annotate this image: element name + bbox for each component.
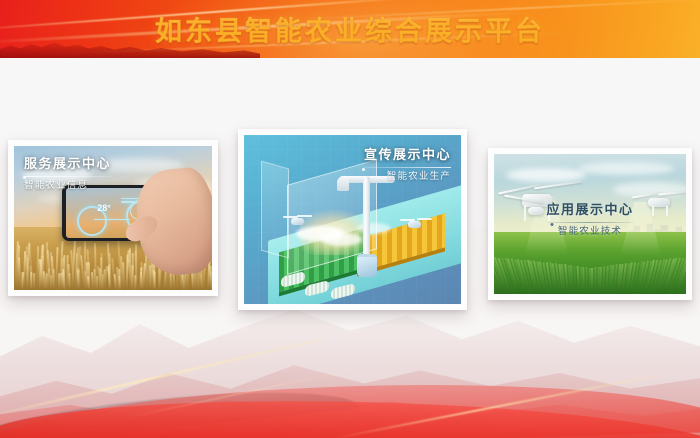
- card-image-promotion: 宣传展示中心 智能农业生产: [244, 135, 461, 304]
- hud-bar: [121, 201, 135, 203]
- card-title: 服务展示中心: [24, 156, 111, 172]
- drone-rotor: [417, 218, 432, 220]
- card-subtitle: 智能农业信息: [24, 180, 111, 192]
- drone-body: [408, 221, 421, 228]
- card-image-application: 应用展示中心 智能农业技术: [494, 154, 686, 294]
- cloud: [357, 223, 391, 234]
- wheat-stalk: [78, 269, 81, 290]
- wheat-stalk: [33, 273, 35, 290]
- wave-grey: [0, 378, 360, 438]
- crop-row: [585, 267, 587, 294]
- card-caption-service: 服务展示中心 智能农业信息: [24, 156, 111, 192]
- mountain-layer-near: [0, 346, 700, 438]
- irrigation-arm-cap: [337, 177, 349, 191]
- mountain-layer-mid: [0, 308, 700, 438]
- drone-rotor: [658, 190, 686, 196]
- drone-leg: [652, 206, 654, 216]
- card-caption-promotion: 宣传展示中心 智能农业生产: [364, 147, 451, 183]
- card-caption-application: 应用展示中心 智能农业技术: [546, 202, 633, 238]
- card-service-center[interactable]: 28° 服务展示中心 智能农业信息: [8, 140, 218, 296]
- card-title: 宣传展示中心: [364, 147, 451, 163]
- caption-rule: [364, 167, 451, 168]
- drone-rotor: [297, 215, 312, 217]
- cloud: [322, 233, 362, 246]
- card-promotion-center[interactable]: 宣传展示中心 智能农业生产: [238, 129, 467, 310]
- drone-rotor: [283, 216, 298, 218]
- header-banner: 如东县智能农业综合展示平台: [0, 0, 700, 58]
- page-title: 如东县智能农业综合展示平台: [0, 10, 700, 49]
- grid-line: [244, 135, 245, 304]
- drone-body: [291, 218, 304, 225]
- card-application-center[interactable]: 应用展示中心 智能农业技术: [488, 148, 692, 300]
- wheat-stalk: [135, 243, 137, 290]
- card-subtitle: 智能农业生产: [364, 171, 451, 183]
- grid-line: [258, 135, 259, 304]
- caption-dot: [23, 176, 26, 179]
- card-title: 应用展示中心: [546, 202, 633, 218]
- caption-rule: [546, 222, 633, 223]
- app-root: 如东县智能农业综合展示平台 28°: [0, 0, 700, 438]
- light-ray: [0, 338, 326, 421]
- drone-icon: [283, 213, 313, 227]
- card-image-service: 28° 服务展示中心 智能农业信息: [14, 146, 212, 290]
- wave-light-red: [0, 375, 700, 438]
- caption-rule: [24, 176, 111, 177]
- light-ray: [123, 368, 358, 419]
- wave-deep-red: [0, 393, 700, 438]
- drone-leg: [524, 205, 526, 221]
- drone-sprayer: [528, 207, 544, 215]
- wheat-stalk: [132, 253, 134, 290]
- water-tank: [357, 254, 377, 277]
- drone-icon: [632, 185, 686, 219]
- card-subtitle: 智能农业技术: [546, 226, 633, 238]
- drone-rotor: [400, 219, 415, 221]
- temperature-readout: 28°: [97, 203, 111, 213]
- drone-icon: [400, 216, 434, 232]
- wheat-stalk: [140, 262, 142, 290]
- grid-line: [244, 135, 461, 136]
- irrigation-pole: [363, 176, 370, 260]
- glass-panel-side: [261, 161, 289, 259]
- light-ray: [333, 375, 657, 438]
- drone-leg: [666, 206, 668, 216]
